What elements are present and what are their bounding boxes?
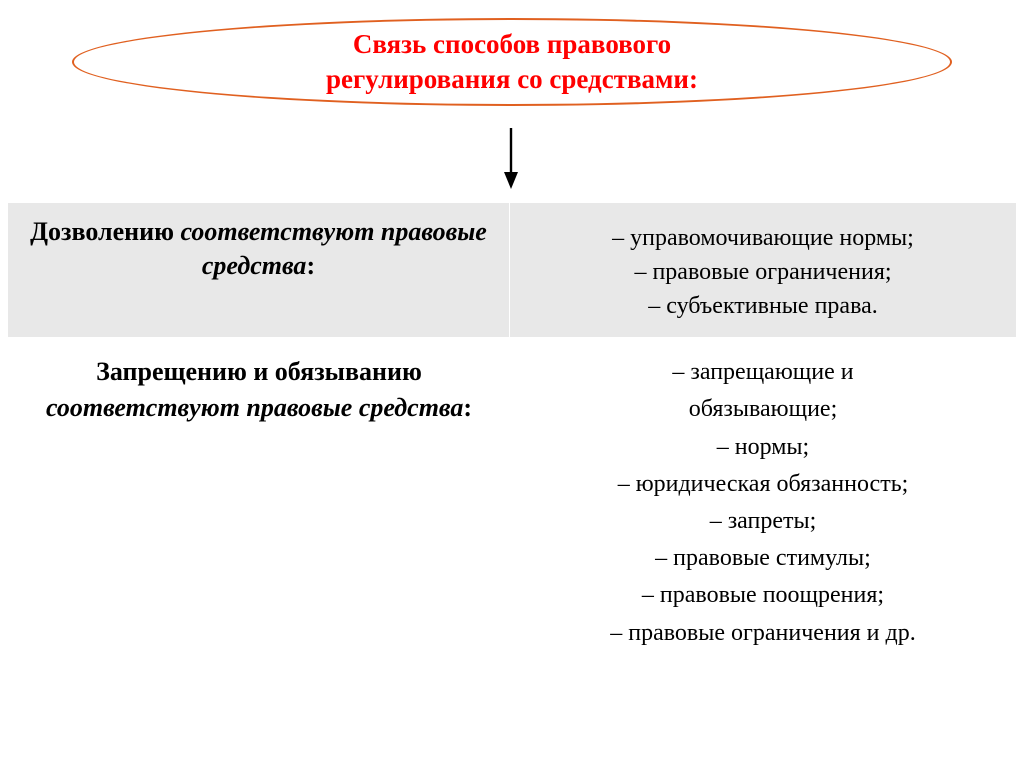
method-2-part2: соответствуют правовые средства [46,393,463,422]
means-2-list: – запрещающие и обязывающие; – нормы; – … [524,354,1002,652]
method-2-text: Запрещению и обязыванию соответствуют пр… [22,354,496,425]
means-1-list: – управомочивающие нормы; – правовые огр… [524,221,1002,323]
list-item: – нормы; [524,429,1002,466]
method-2-part1: Запрещению и обязыванию [96,357,422,386]
list-item: – правовые ограничения и др. [524,615,1002,652]
list-item: – юридическая обязанность; [524,466,1002,503]
method-1-part1: Дозволению [30,217,174,246]
list-item: – запреты; [524,503,1002,540]
method-1-text: Дозволению соответствуют правовые средст… [22,215,495,283]
table-cell-method-1: Дозволению соответствуют правовые средст… [8,203,510,337]
list-item: – правовые стимулы; [524,540,1002,577]
title-ellipse: Связь способов правового регулирования с… [72,18,952,106]
title-line-2: регулирования со средствами: [326,64,698,94]
slide-root: Связь способов правового регулирования с… [0,0,1024,767]
table-cell-means-2: – запрещающие и обязывающие; – нормы; – … [510,338,1016,666]
relations-table: Дозволению соответствуют правовые средст… [8,203,1016,666]
table-cell-method-2: Запрещению и обязыванию соответствуют пр… [8,338,510,666]
table-row: Дозволению соответствуют правовые средст… [8,203,1016,338]
list-item: – запрещающие и [524,354,1002,391]
list-item: – управомочивающие нормы; [524,221,1002,255]
method-1-part2: соответствуют правовые средства [180,217,486,280]
table-row: Запрещению и обязыванию соответствуют пр… [8,338,1016,666]
list-item: – правовые поощрения; [524,577,1002,614]
list-item: – правовые ограничения; [524,255,1002,289]
down-arrow-icon [496,128,526,190]
list-item: – субъективные права. [524,289,1002,323]
list-item: обязывающие; [524,391,1002,428]
title-line-1: Связь способов правового [353,29,671,59]
method-1-part3: : [306,251,315,280]
method-2-part3: : [463,393,472,422]
page-title: Связь способов правового регулирования с… [326,27,698,96]
table-cell-means-1: – управомочивающие нормы; – правовые огр… [510,203,1016,337]
